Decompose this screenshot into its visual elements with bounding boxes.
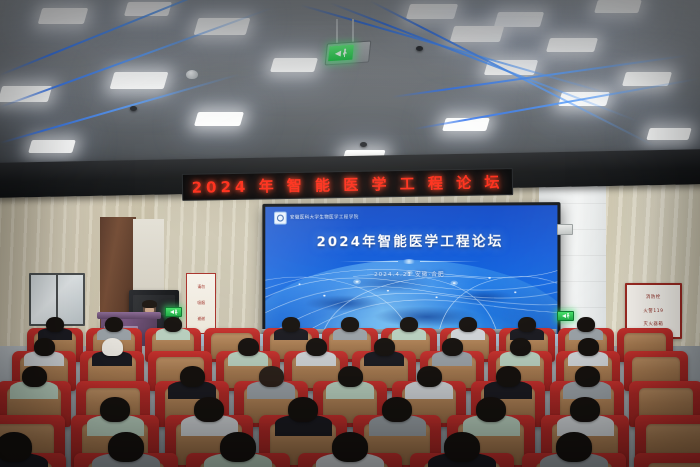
ceiling-light-panel [546, 38, 598, 52]
attendee-head [476, 397, 506, 422]
slide-title: 2024年智能医学工程论坛 [266, 230, 558, 251]
auditorium-seat [74, 453, 178, 467]
attendee-head [332, 432, 368, 462]
attendee-head [556, 432, 592, 462]
auditorium-seat [522, 453, 626, 467]
wall-control-box [557, 224, 573, 235]
attendee-head [238, 338, 259, 356]
seat-back-cushion [648, 463, 700, 467]
wall-exit-sign-right [557, 311, 574, 321]
attendee-head [34, 338, 55, 356]
attendee-head [22, 366, 47, 387]
attendee-head [575, 366, 600, 387]
poster-line: 火警119 [643, 308, 663, 314]
attendee-head [496, 366, 521, 387]
left-arrow-icon [562, 314, 566, 318]
ceiling-light-panel [0, 86, 52, 102]
running-man-icon [567, 313, 570, 319]
attendee-head [194, 397, 224, 422]
ceiling-light-panel [494, 12, 544, 27]
attendee-head [282, 317, 300, 332]
slide-date-location: 2024.4.21 安徽·合肥 [266, 270, 558, 278]
attendee-head [459, 317, 477, 332]
attendee-head [306, 338, 327, 356]
attendee-head [100, 397, 130, 422]
attendee-head [510, 338, 531, 356]
attendee-head [578, 338, 599, 356]
attendee-head [220, 432, 256, 462]
wall-notice-sign: 请勿 吸烟 谢谢 [186, 273, 216, 333]
ceiling-light-panel [194, 112, 244, 126]
attendee-head [417, 366, 442, 387]
exit-sign-panel [328, 45, 354, 62]
auditorium-seat [298, 453, 402, 467]
attendee-head [374, 338, 395, 356]
attendee-head [400, 317, 418, 332]
hanging-exit-sign [326, 19, 370, 63]
presenter-hair [142, 300, 157, 308]
ceiling-light-panel [110, 72, 169, 89]
seat-row [0, 453, 700, 467]
poster-line: 消防栓 [646, 294, 661, 300]
ceiling-light-panel [406, 4, 458, 19]
attendee-head [105, 317, 123, 332]
auditorium-seat [410, 453, 514, 467]
slide-org-name: 安徽医科大学生物医学工程学院 [290, 214, 359, 220]
lectern-top [97, 312, 161, 319]
exit-sign-rod [336, 19, 338, 43]
attendee-head [341, 317, 359, 332]
notice-line: 请勿 [197, 284, 205, 290]
divider-line-left [340, 260, 399, 261]
divider-ornament-icon [402, 258, 418, 263]
ceiling-speaker-icon [130, 106, 137, 111]
ceiling-light-panel [28, 140, 76, 153]
ceiling-light-panel [594, 0, 642, 13]
attendee-head [577, 317, 595, 332]
attendee-head [46, 317, 64, 332]
attendee-head [570, 397, 600, 422]
slide-divider-ornament [340, 258, 480, 264]
attendee-head [164, 317, 182, 332]
university-crest-icon [275, 211, 288, 224]
running-man-icon [343, 48, 348, 57]
attendee-head [180, 366, 205, 387]
presentation-slide: 安徽医科大学生物医学工程学院 2024年智能医学工程论坛 2024.4.21 安… [266, 205, 558, 335]
ceiling-speaker-icon [416, 46, 423, 51]
divider-line-right [421, 260, 480, 261]
audience-seating [0, 327, 700, 467]
notice-line: 吸烟 [197, 300, 205, 306]
exit-sign-rod [352, 19, 354, 43]
ceiling-speaker-icon [360, 142, 367, 147]
ceiling-light-panel [270, 58, 318, 72]
ceiling-light-panel [38, 8, 89, 24]
auditorium-seat [186, 453, 290, 467]
led-marquee-text: 2024 年 智 能 医 学 工 程 论 坛 [191, 171, 503, 197]
attendee-head [382, 397, 412, 422]
attendee-head [518, 317, 536, 332]
attendee-head [442, 338, 463, 356]
attendee-head [108, 432, 144, 462]
notice-line: 谢谢 [197, 316, 205, 322]
ceiling-light-panel [646, 128, 691, 140]
attendee-head [259, 366, 284, 387]
attendee-head [0, 432, 32, 462]
exit-sign-housing [325, 40, 372, 65]
auditorium-photo: 2024 年 智 能 医 学 工 程 论 坛 [0, 0, 700, 467]
ceiling-light-panel [450, 26, 505, 42]
attendee-head [102, 338, 123, 356]
ceiling-smoke-detector-icon [186, 70, 198, 79]
attendee-head [288, 397, 318, 422]
slide-org-logo: 安徽医科大学生物医学工程学院 [275, 211, 359, 224]
attendee-head [444, 432, 480, 462]
auditorium-seat [0, 453, 66, 467]
attendee-head [338, 366, 363, 387]
left-arrow-icon [335, 50, 342, 56]
auditorium-seat [634, 453, 700, 467]
